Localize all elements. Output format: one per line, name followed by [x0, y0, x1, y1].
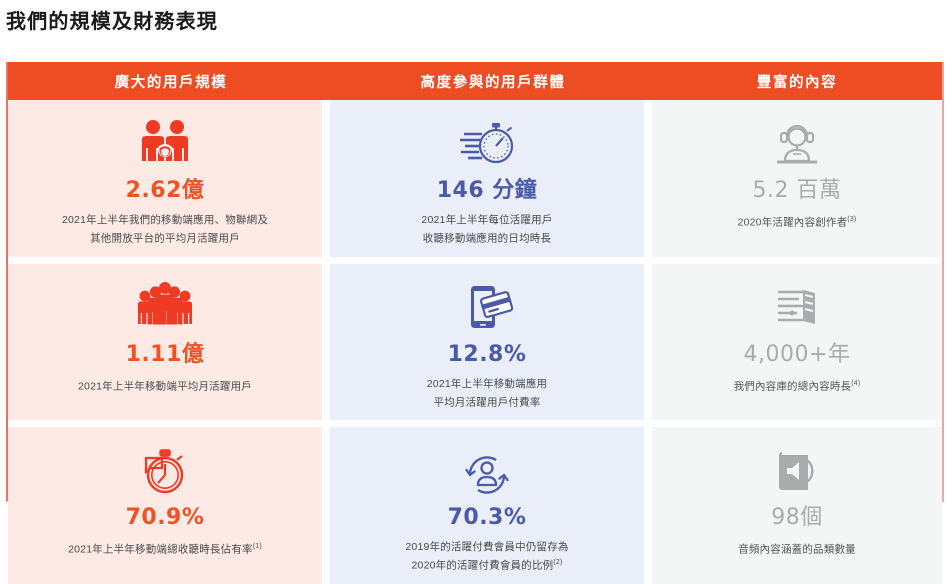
- phone-credit-card-icon: [459, 278, 515, 338]
- metric-value: 1.11億: [126, 342, 205, 368]
- caption-line-1: 2021年上半年我們的移動端應用、物聯網及: [62, 214, 268, 226]
- metric-cell-content-hours: 4,000+年 我們內容庫的總內容時長(4): [652, 264, 942, 421]
- metric-caption: 2021年上半年移動端總收聽時長佔有率(1): [68, 539, 262, 558]
- metric-cell-listening-share: 70.9% 2021年上半年移動端總收聽時長佔有率(1): [8, 427, 322, 584]
- caption-line-1: 2021年上半年移動端總收聽時長佔有率: [68, 544, 253, 556]
- table-header-rich-content: 豐富的內容: [652, 62, 942, 100]
- caption-line-1: 音頻內容涵蓋的品類數量: [738, 544, 856, 556]
- table-header-row: 廣大的用戶規模 高度參與的用戶群體 豐富的內容: [8, 62, 942, 100]
- column-rich-content: 5.2 百萬 2020年活躍內容創作者(3): [652, 100, 942, 584]
- metric-value: 12.8%: [448, 342, 527, 368]
- caption-line-1: 2021年上半年移動端應用: [427, 378, 547, 390]
- metric-caption: 音頻內容涵蓋的品類數量: [738, 539, 856, 558]
- metric-value: 5.2 百萬: [753, 178, 842, 204]
- metric-cell-categories: 98個 音頻內容涵蓋的品類數量: [652, 427, 942, 584]
- metric-value: 4,000+年: [744, 342, 851, 368]
- metric-value: 2.62億: [126, 178, 205, 204]
- metric-caption: 2019年的活躍付費會員中仍留存為 2020年的活躍付費會員的比例(2): [405, 539, 568, 574]
- caption-line-2: 平均月活躍用戶付費率: [434, 396, 541, 408]
- metric-caption: 2021年上半年移動端應用 平均月活躍用戶付費率: [427, 376, 547, 411]
- metric-cell-creators: 5.2 百萬 2020年活躍內容創作者(3): [652, 100, 942, 257]
- page-title: 我們的規模及財務表現: [0, 0, 952, 36]
- table-header-user-engagement: 高度參與的用戶群體: [334, 62, 652, 100]
- metric-caption: 2021年上半年移動端平均月活躍用戶: [78, 376, 252, 395]
- metric-caption: 2021年上半年每位活躍用戶 收聽移動端應用的日均時長: [421, 212, 552, 247]
- table-header-user-scale: 廣大的用戶規模: [8, 62, 334, 100]
- metric-caption: 2021年上半年我們的移動端應用、物聯網及 其他開放平台的平均月活躍用戶: [62, 212, 268, 247]
- audiobook-speaker-icon: [770, 441, 824, 501]
- footnote-marker: (3): [847, 216, 856, 223]
- caption-line-2: 其他開放平台的平均月活躍用戶: [90, 233, 240, 245]
- column-user-scale: 2.62億 2021年上半年我們的移動端應用、物聯網及 其他開放平台的平均月活躍…: [8, 100, 322, 584]
- caption-line-2: 收聽移動端應用的日均時長: [423, 233, 551, 245]
- caption-line-1: 2020年活躍內容創作者: [738, 217, 848, 229]
- stopwatch-speed-icon: [456, 114, 518, 174]
- caption-line-1: 2019年的活躍付費會員中仍留存為: [405, 541, 568, 553]
- metric-value: 70.9%: [126, 505, 205, 531]
- caption-line-1: 我們內容庫的總內容時長: [734, 380, 852, 392]
- metric-cell-retention: 70.3% 2019年的活躍付費會員中仍留存為 2020年的活躍付費會員的比例(…: [330, 427, 644, 584]
- metric-value: 146 分鐘: [437, 178, 538, 204]
- footnote-marker: (2): [553, 559, 562, 566]
- two-people-icon: [136, 114, 194, 174]
- metric-value: 98個: [771, 505, 823, 531]
- metric-cell-mau-total: 2.62億 2021年上半年我們的移動端應用、物聯網及 其他開放平台的平均月活躍…: [8, 100, 322, 257]
- crowd-of-people-icon: [135, 278, 195, 338]
- metric-value: 70.3%: [448, 505, 527, 531]
- user-retention-icon: [458, 441, 516, 501]
- metric-caption: 2020年活躍內容創作者(3): [738, 212, 857, 231]
- column-user-engagement: 146 分鐘 2021年上半年每位活躍用戶 收聽移動端應用的日均時長: [330, 100, 644, 584]
- footnote-marker: (1): [253, 543, 262, 550]
- metric-cell-paying-ratio: 12.8% 2021年上半年移動端應用 平均月活躍用戶付費率: [330, 264, 644, 421]
- caption-line-1: 2021年上半年每位活躍用戶: [421, 214, 552, 226]
- stopwatch-share-icon: [136, 441, 194, 501]
- metrics-table: 廣大的用戶規模 高度參與的用戶群體 豐富的內容: [6, 62, 944, 502]
- content-creator-headset-icon: [769, 114, 825, 174]
- caption-line-2: 2020年的活躍付費會員的比例: [411, 560, 553, 572]
- caption-line-1: 2021年上半年移動端平均月活躍用戶: [78, 380, 252, 392]
- footnote-marker: (4): [851, 380, 860, 387]
- metric-cell-mobile-mau: 1.11億 2021年上半年移動端平均月活躍用戶: [8, 264, 322, 421]
- metric-caption: 我們內容庫的總內容時長(4): [734, 376, 861, 395]
- metric-cell-daily-minutes: 146 分鐘 2021年上半年每位活躍用戶 收聽移動端應用的日均時長: [330, 100, 644, 257]
- table-body: 2.62億 2021年上半年我們的移動端應用、物聯網及 其他開放平台的平均月活躍…: [8, 100, 942, 584]
- books-library-icon: [769, 278, 825, 338]
